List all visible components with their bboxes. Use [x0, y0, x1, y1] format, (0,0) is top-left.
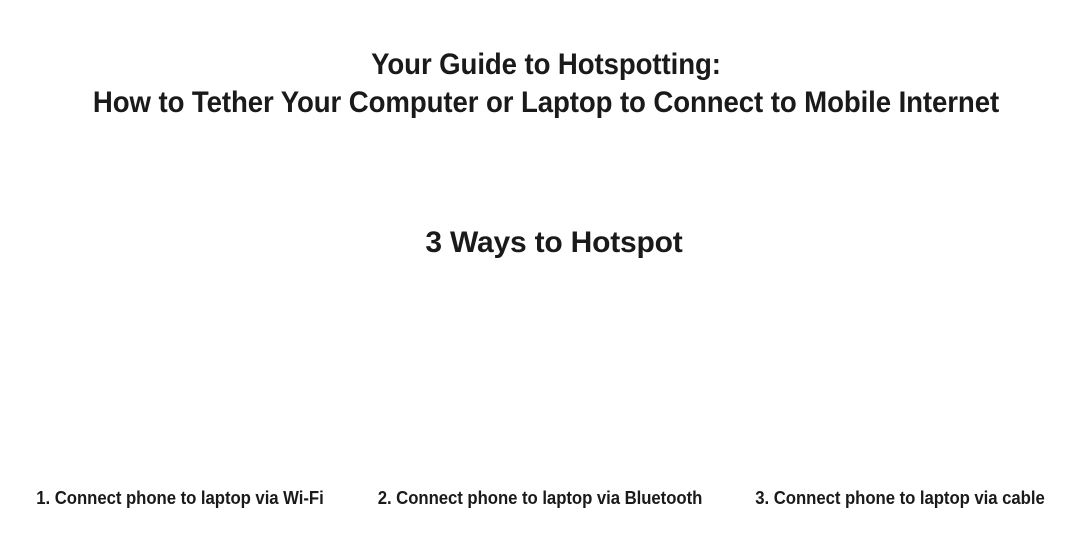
illustration-slot-cable [720, 272, 1080, 478]
infographic-page: Your Guide to Hotspotting: How to Tether… [0, 0, 1080, 552]
method-caption-row: 1. Connect phone to laptop via Wi-Fi 2. … [0, 486, 1080, 510]
page-title: Your Guide to Hotspotting: How to Tether… [0, 46, 1080, 122]
illustration-band [0, 272, 1080, 478]
illustration-slot-wifi [0, 272, 360, 478]
illustration-slot-bluetooth [360, 272, 720, 478]
page-title-line-2: How to Tether Your Computer or Laptop to… [44, 84, 1049, 122]
method-caption-bluetooth: 2. Connect phone to laptop via Bluetooth [373, 486, 708, 510]
method-caption-cable: 3. Connect phone to laptop via cable [733, 486, 1068, 510]
page-title-line-1: Your Guide to Hotspotting: [44, 46, 1049, 84]
method-caption-wifi: 1. Connect phone to laptop via Wi-Fi [13, 486, 348, 510]
section-heading: 3 Ways to Hotspot [0, 224, 1080, 262]
